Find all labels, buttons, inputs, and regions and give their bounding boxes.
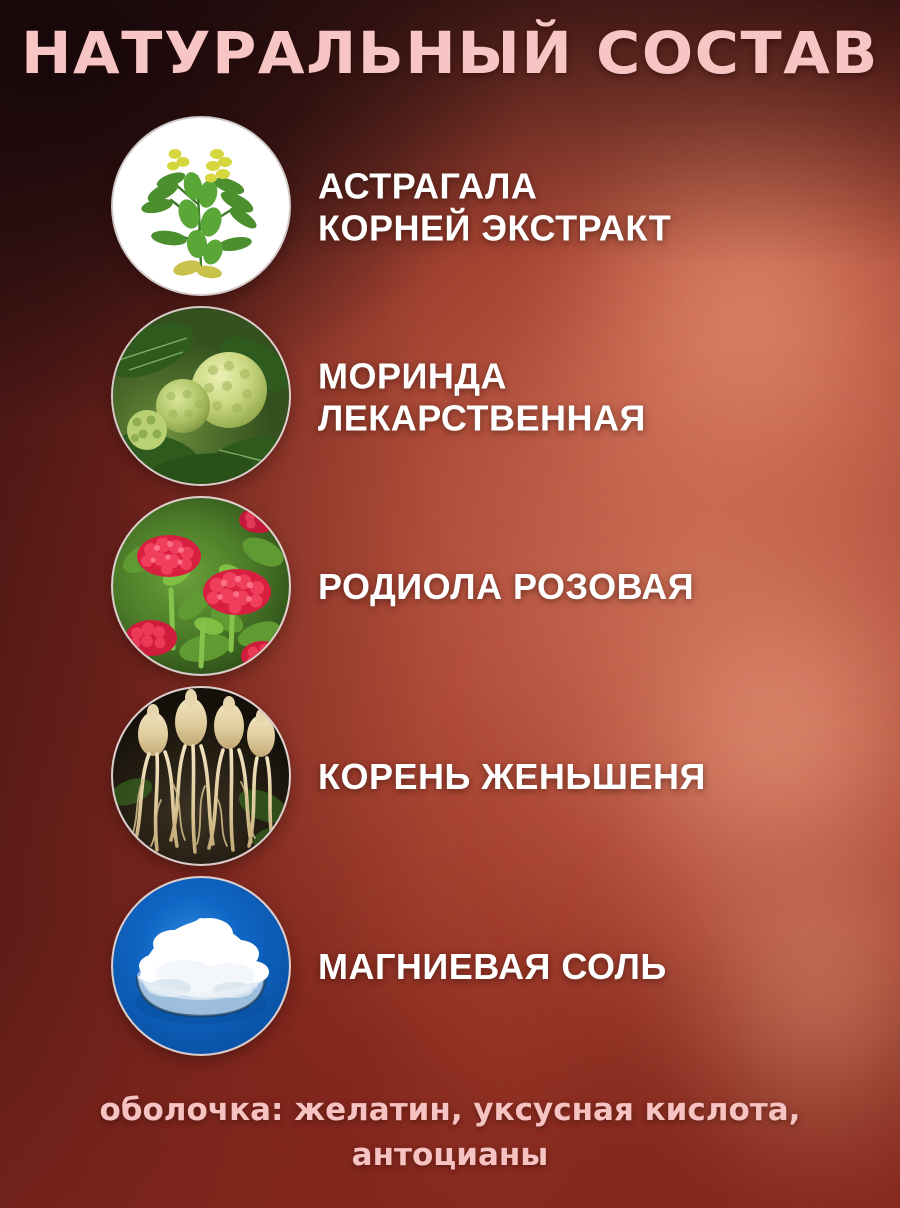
ginseng-illustration [113,688,289,864]
ingredient-row: МАГНИЕВАЯ СОЛЬ [0,872,900,1062]
ingredients-poster: НАТУРАЛЬНЫЙ СОСТАВ [0,0,900,1208]
ingredient-row: КОРЕНЬ ЖЕНЬШЕНЯ [0,682,900,872]
ingredient-label: АСТРАГАЛА КОРНЕЙ ЭКСТРАКТ [318,165,671,249]
noni-illustration [113,308,289,484]
ginseng-root-photo [113,688,289,864]
astragalus-illustration [113,118,289,294]
noni-fruit-photo [113,308,289,484]
ingredient-label: МАГНИЕВАЯ СОЛЬ [318,946,667,988]
rhodiola-illustration [113,498,289,674]
ingredient-label: МОРИНДА ЛЕКАРСТВЕННАЯ [318,355,646,439]
rhodiola-rosea-photo [113,498,289,674]
ingredient-row: РОДИОЛА РОЗОВАЯ [0,492,900,682]
ingredient-row: АСТРАГАЛА КОРНЕЙ ЭКСТРАКТ [0,112,900,302]
ingredient-row: МОРИНДА ЛЕКАРСТВЕННАЯ [0,302,900,492]
capsule-shell-note: оболочка: желатин, уксусная кислота, ант… [40,1088,860,1178]
magnesium-salt-photo [113,878,289,1054]
astragalus-plant-photo [113,118,289,294]
ingredient-list: АСТРАГАЛА КОРНЕЙ ЭКСТРАКТ [0,112,900,1062]
page-title: НАТУРАЛЬНЫЙ СОСТАВ [0,24,900,82]
magnesium-salt-illustration [113,878,289,1054]
ingredient-label: РОДИОЛА РОЗОВАЯ [318,566,694,608]
ingredient-label: КОРЕНЬ ЖЕНЬШЕНЯ [318,756,706,798]
